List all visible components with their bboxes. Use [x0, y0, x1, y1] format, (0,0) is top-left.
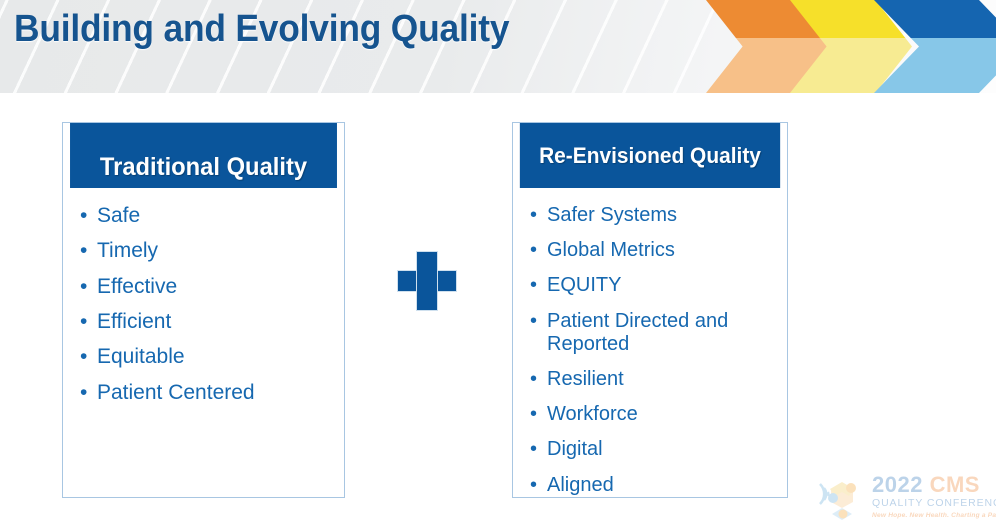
bullet-icon: •: [80, 204, 87, 228]
list-item-label: Workforce: [547, 403, 638, 425]
list-item-label: Safe: [97, 204, 140, 227]
bullet-icon: •: [530, 368, 537, 391]
list-item: •Patient Directed and Reported: [527, 310, 777, 356]
chevron-graphic-group: [706, 0, 996, 93]
list-item-label: Global Metrics: [547, 239, 675, 261]
list-item: •Safer Systems: [527, 204, 777, 227]
list-item: •Effective: [77, 275, 334, 299]
list-item-label: Patient Centered: [97, 381, 255, 404]
page-title: Building and Evolving Quality: [14, 8, 509, 51]
list-item-label: Digital: [547, 438, 603, 460]
list-item-label: Aligned: [547, 474, 614, 496]
bullet-icon: •: [80, 381, 87, 405]
cms-logo-title: 2022 CMS: [872, 474, 992, 496]
list-item-label: Patient Directed and Reported: [547, 310, 728, 355]
cms-logo-tagline: New Hope. New Health. Charting a Path Fo…: [872, 512, 992, 519]
bullet-icon: •: [530, 274, 537, 297]
list-item-label: Equitable: [97, 345, 185, 368]
cms-logo-year: 2022: [872, 472, 923, 497]
bullet-icon: •: [530, 403, 537, 426]
list-item-label: EQUITY: [547, 274, 621, 296]
list-item-label: Timely: [97, 239, 158, 262]
list-item: •Patient Centered: [77, 381, 334, 405]
cms-conference-logo: 2022 CMS QUALITY CONFERENCE New Hope. Ne…: [816, 474, 992, 526]
bullet-icon: •: [530, 310, 537, 333]
bullet-icon: •: [530, 239, 537, 262]
slide-header-band: Building and Evolving Quality: [0, 0, 996, 93]
bullet-icon: •: [530, 204, 537, 227]
re-envisioned-quality-box: Re-Envisioned Quality •Safer Systems •Gl…: [512, 122, 788, 498]
re-envisioned-quality-header: Re-Envisioned Quality: [520, 123, 780, 188]
list-item: •Efficient: [77, 310, 334, 334]
list-item: •Workforce: [527, 403, 777, 426]
bullet-icon: •: [80, 345, 87, 369]
cms-logo-abbr: CMS: [930, 472, 980, 497]
bullet-icon: •: [530, 438, 537, 461]
list-item-label: Efficient: [97, 310, 171, 333]
list-item-label: Safer Systems: [547, 204, 677, 226]
bullet-icon: •: [80, 310, 87, 334]
traditional-quality-list: •Safe •Timely •Effective •Efficient •Equ…: [63, 188, 344, 405]
list-item: •Global Metrics: [527, 239, 777, 262]
plus-vertical-bar: [416, 251, 438, 311]
bullet-icon: •: [80, 239, 87, 263]
cms-logo-subtitle: QUALITY CONFERENCE: [872, 496, 992, 512]
re-envisioned-quality-list: •Safer Systems •Global Metrics •EQUITY •…: [513, 188, 787, 497]
list-item: •Timely: [77, 239, 334, 263]
list-item: •Safe: [77, 204, 334, 228]
cms-pinwheel-icon: [816, 476, 868, 520]
list-item: •Resilient: [527, 368, 777, 391]
bullet-icon: •: [530, 474, 537, 497]
list-item: •EQUITY: [527, 274, 777, 297]
cms-logo-text: 2022 CMS QUALITY CONFERENCE New Hope. Ne…: [872, 474, 992, 519]
list-item: •Aligned: [527, 474, 777, 497]
traditional-quality-box: Traditional Quality •Safe •Timely •Effec…: [62, 122, 345, 498]
list-item-label: Effective: [97, 275, 177, 298]
list-item-label: Resilient: [547, 368, 624, 390]
list-item: •Equitable: [77, 345, 334, 369]
plus-symbol: [397, 251, 457, 311]
list-item: •Digital: [527, 438, 777, 461]
bullet-icon: •: [80, 275, 87, 299]
traditional-quality-header: Traditional Quality: [70, 123, 337, 188]
